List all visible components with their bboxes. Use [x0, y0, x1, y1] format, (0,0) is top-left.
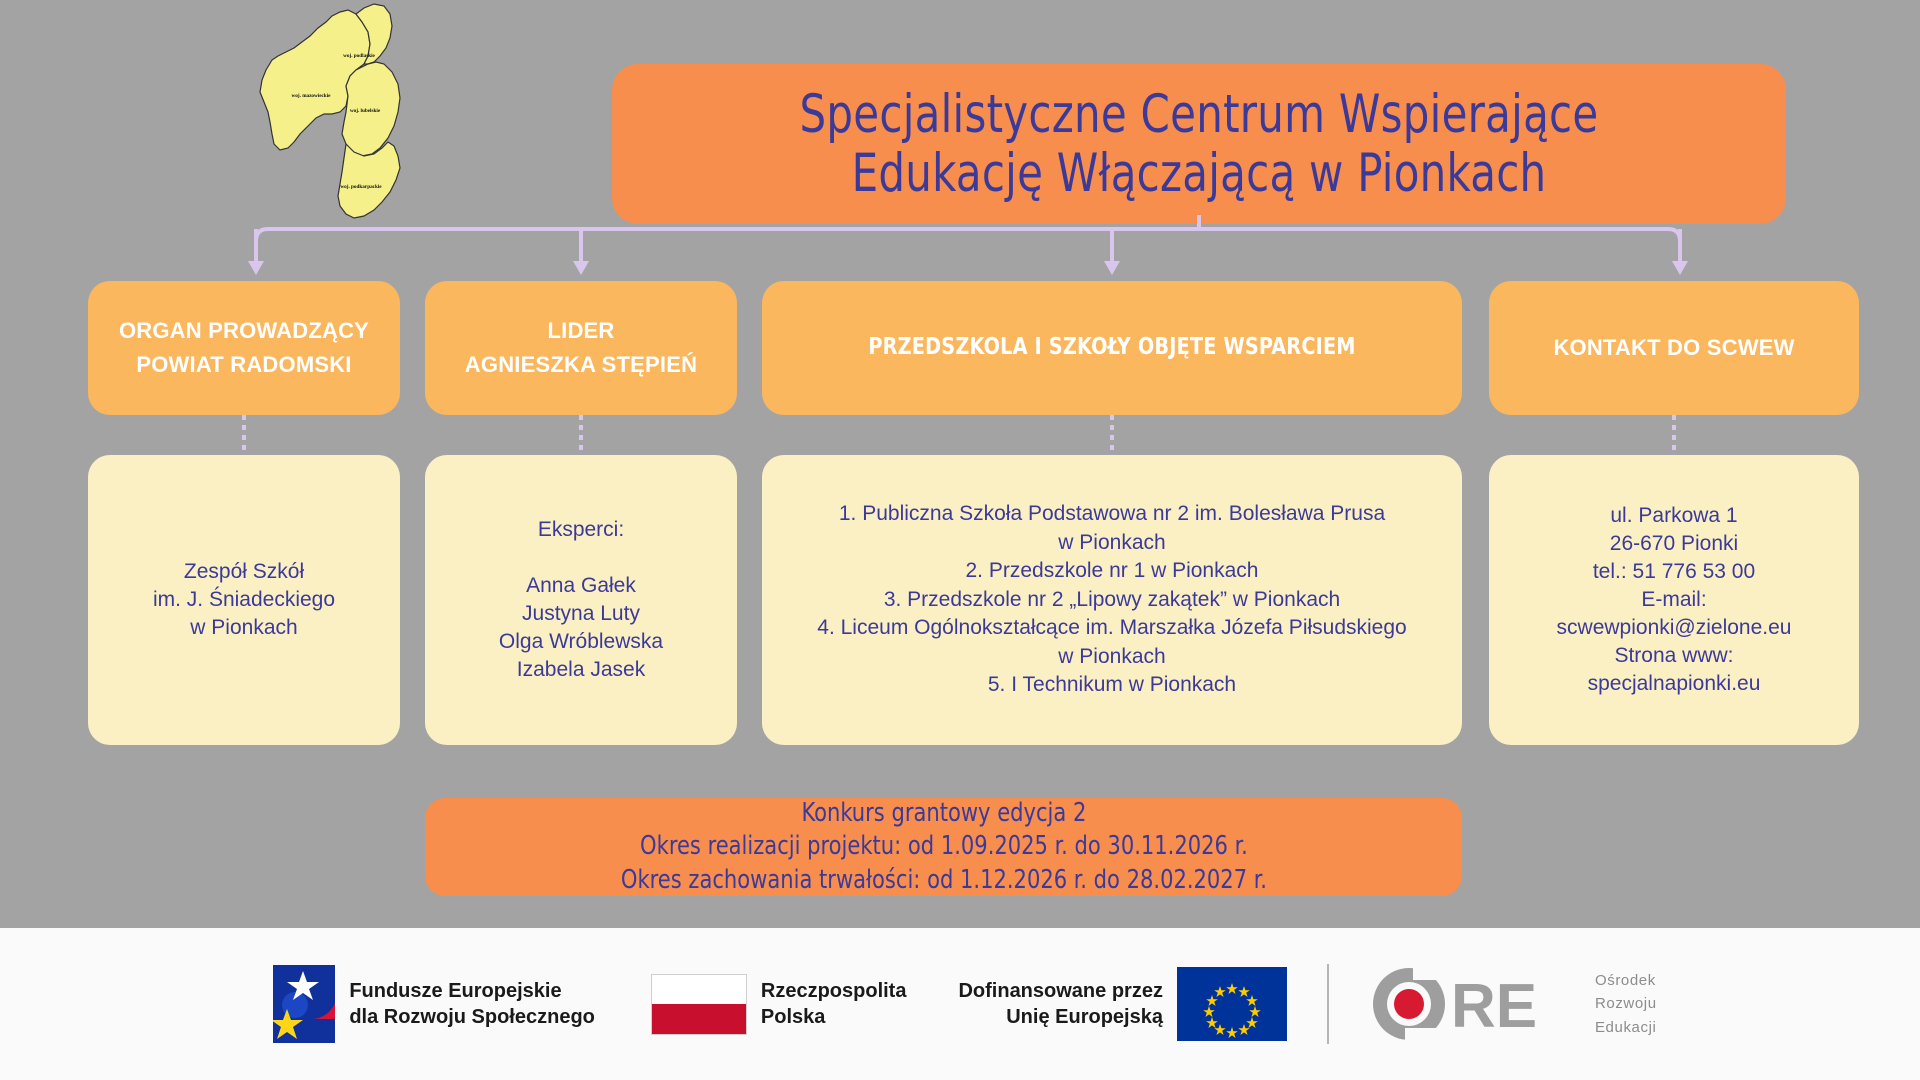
body-kontakt: ul. Parkowa 1 26-670 Pionki tel.: 51 776…	[1489, 455, 1859, 745]
header-organ-prowadzacy-label: ORGAN PROWADZĄCY POWIAT RADOMSKI	[119, 314, 369, 382]
body-organ-prowadzacy: Zespół Szkół im. J. Śniadeckiego w Pionk…	[88, 455, 400, 745]
column-organ-prowadzacy: ORGAN PROWADZĄCY POWIAT RADOMSKI Zespół …	[88, 281, 400, 745]
poland-flag-icon	[651, 974, 747, 1035]
dofinansowane-label: Dofinansowane przez Unię Europejską	[958, 978, 1162, 1030]
header-lider[interactable]: LIDER AGNIESZKA STĘPIEŃ	[425, 281, 737, 415]
ore-subtitle: Ośrodek Rozwoju Edukacji	[1595, 969, 1657, 1039]
column-lider: LIDER AGNIESZKA STĘPIEŃ Eksperci: Anna G…	[425, 281, 737, 745]
map-label-podkarpackie: woj. podkarpackie	[340, 184, 382, 190]
column-przedszkola-i-szkoly: PRZEDSZKOLA I SZKOŁY OBJĘTE WSPARCIEM 1.…	[762, 281, 1462, 745]
column-kontakt: KONTAKT DO SCWEW ul. Parkowa 1 26-670 Pi…	[1489, 281, 1859, 745]
header-przedszkola-i-szkoly[interactable]: PRZEDSZKOLA I SZKOŁY OBJĘTE WSPARCIEM	[762, 281, 1462, 415]
body-przedszkola-i-szkoly: 1. Publiczna Szkoła Podstawowa nr 2 im. …	[762, 455, 1462, 745]
dotted-connector-1	[425, 415, 737, 455]
body-organ-prowadzacy-text: Zespół Szkół im. J. Śniadeckiego w Pionk…	[153, 558, 335, 642]
title-banner: Specjalistyczne Centrum Wspierające Eduk…	[612, 64, 1786, 224]
ore-red-dot	[1394, 989, 1424, 1019]
ore-logo: RE Ośrodek Rozwoju Edukacji	[1369, 964, 1657, 1044]
connector-bus	[256, 229, 1680, 251]
footer-divider	[1327, 964, 1329, 1044]
header-organ-prowadzacy[interactable]: ORGAN PROWADZĄCY POWIAT RADOMSKI	[88, 281, 400, 415]
dotted-connector-2	[762, 415, 1462, 455]
body-lider-text: Eksperci: Anna Gałek Justyna Luty Olga W…	[499, 516, 663, 685]
eu-flag-icon	[1177, 967, 1287, 1041]
map-label-mazowieckie: woj. mazowieckie	[292, 93, 332, 99]
rzeczpospolita-polska-label: Rzeczpospolita Polska	[761, 978, 907, 1030]
fundusze-europejskie-label: Fundusze Europejskie dla Rozwoju Społecz…	[349, 978, 595, 1030]
dotted-connector-0	[88, 415, 400, 455]
dotted-connector-3	[1489, 415, 1859, 455]
fundusze-europejskie-logo: Fundusze Europejskie dla Rozwoju Społecz…	[273, 965, 595, 1043]
project-period-text: Konkurs grantowy edycja 2 Okres realizac…	[620, 797, 1266, 897]
header-kontakt-label: KONTAKT DO SCWEW	[1553, 331, 1794, 365]
footer-logos: Fundusze Europejskie dla Rozwoju Społecz…	[0, 928, 1920, 1080]
header-lider-label: LIDER AGNIESZKA STĘPIEŃ	[465, 314, 697, 382]
header-przedszkola-i-szkoly-label: PRZEDSZKOLA I SZKOŁY OBJĘTE WSPARCIEM	[868, 330, 1355, 366]
contact-details: ul. Parkowa 1 26-670 Pionki tel.: 51 776…	[1557, 502, 1792, 699]
map-label-lubelskie: woj. lubelskie	[350, 108, 381, 114]
rzeczpospolita-polska-logo: Rzeczpospolita Polska	[651, 974, 907, 1035]
unia-europejska-logo: Dofinansowane przez Unię Europejską	[958, 967, 1286, 1041]
ore-mark-icon: RE	[1369, 964, 1579, 1044]
project-period-banner: Konkurs grantowy edycja 2 Okres realizac…	[425, 798, 1462, 896]
connector-arrowheads	[248, 261, 1688, 275]
ore-wordmark: RE	[1451, 972, 1537, 1041]
body-lider: Eksperci: Anna Gałek Justyna Luty Olga W…	[425, 455, 737, 745]
eu-funds-icon	[273, 965, 335, 1043]
header-kontakt[interactable]: KONTAKT DO SCWEW	[1489, 281, 1859, 415]
school-list: 1. Publiczna Szkoła Podstawowa nr 2 im. …	[817, 500, 1406, 700]
page-title: Specjalistyczne Centrum Wspierające Eduk…	[799, 85, 1598, 204]
poland-map: woj. podlaskie woj. mazowieckie woj. lub…	[228, 2, 408, 252]
map-label-podlaskie: woj. podlaskie	[343, 53, 375, 59]
